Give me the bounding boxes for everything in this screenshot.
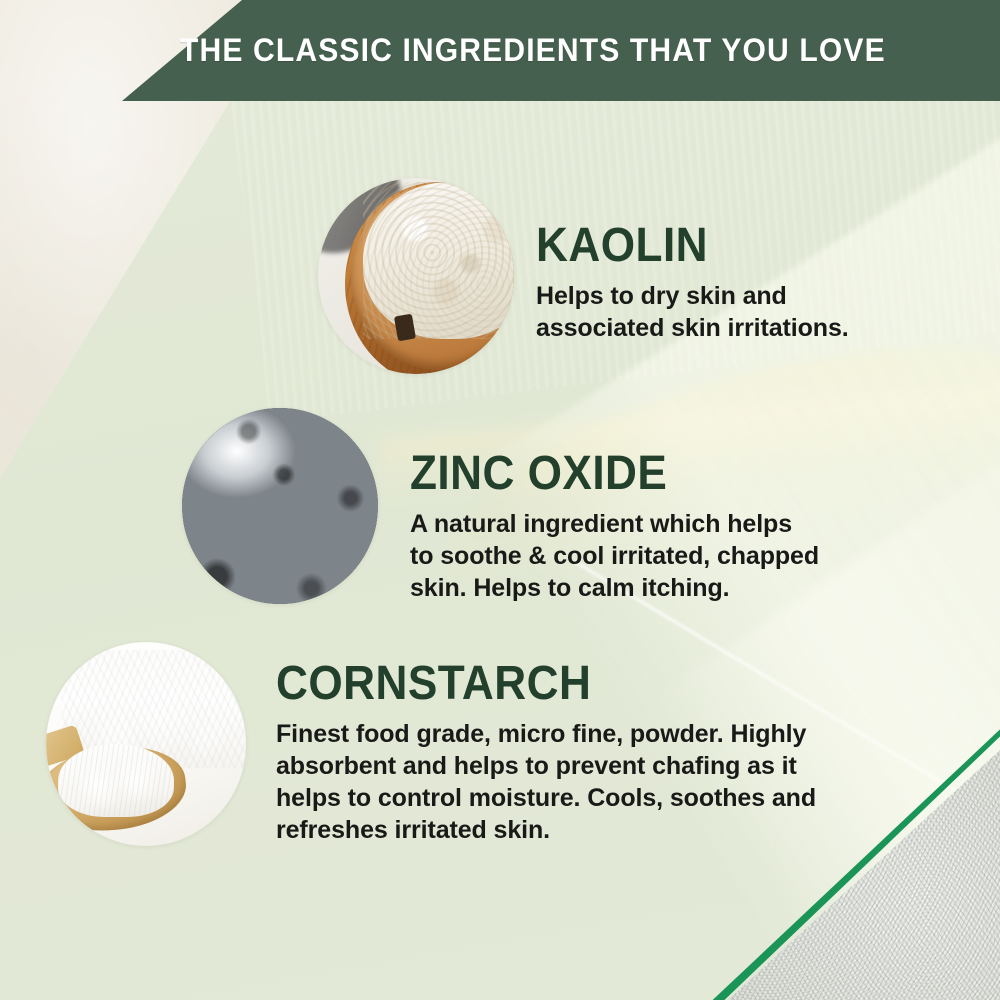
cornstarch-photo	[46, 642, 246, 846]
description-line: absorbent and helps to prevent chafing a…	[276, 750, 896, 782]
description-line: skin. Helps to calm itching.	[410, 572, 900, 604]
description-line: refreshes irritated skin.	[276, 814, 896, 846]
ingredient-description-kaolin: Helps to dry skin and associated skin ir…	[536, 280, 966, 344]
page-title: THE CLASSIC INGREDIENTS THAT YOU LOVE	[30, 0, 970, 101]
zinc-oxide-photo	[182, 408, 378, 604]
description-line: Finest food grade, micro fine, powder. H…	[276, 718, 896, 750]
ingredient-row-kaolin: KAOLIN Helps to dry skin and associated …	[536, 222, 966, 344]
ingredient-title-zinc-oxide: ZINC OXIDE	[410, 450, 861, 498]
kaolin-powder	[363, 182, 514, 339]
infographic-canvas: THE CLASSIC INGREDIENTS THAT YOU LOVE KA…	[0, 0, 1000, 1000]
description-line: associated skin irritations.	[536, 312, 966, 344]
ingredient-row-cornstarch: CORNSTARCH Finest food grade, micro fine…	[276, 660, 896, 846]
ingredient-title-kaolin: KAOLIN	[536, 222, 932, 270]
ingredient-description-zinc-oxide: A natural ingredient which helps to soot…	[410, 508, 900, 604]
description-line: helps to control moisture. Cools, soothe…	[276, 782, 896, 814]
silver-foil-texture	[182, 408, 378, 604]
description-line: Helps to dry skin and	[536, 280, 966, 312]
ingredient-image-cornstarch	[46, 642, 246, 846]
ingredient-description-cornstarch: Finest food grade, micro fine, powder. H…	[276, 718, 896, 846]
description-line: to soothe & cool irritated, chapped	[410, 540, 900, 572]
kaolin-scene	[318, 178, 514, 374]
description-line: A natural ingredient which helps	[410, 508, 900, 540]
cornstarch-scene	[46, 642, 246, 846]
kaolin-photo	[318, 178, 514, 374]
cornstarch-heap-on-spoon	[58, 744, 174, 817]
ingredient-title-cornstarch: CORNSTARCH	[276, 660, 846, 708]
ingredient-row-zinc-oxide: ZINC OXIDE A natural ingredient which he…	[410, 450, 900, 604]
ingredient-image-zinc-oxide	[182, 408, 378, 604]
ingredient-image-kaolin	[318, 178, 514, 374]
